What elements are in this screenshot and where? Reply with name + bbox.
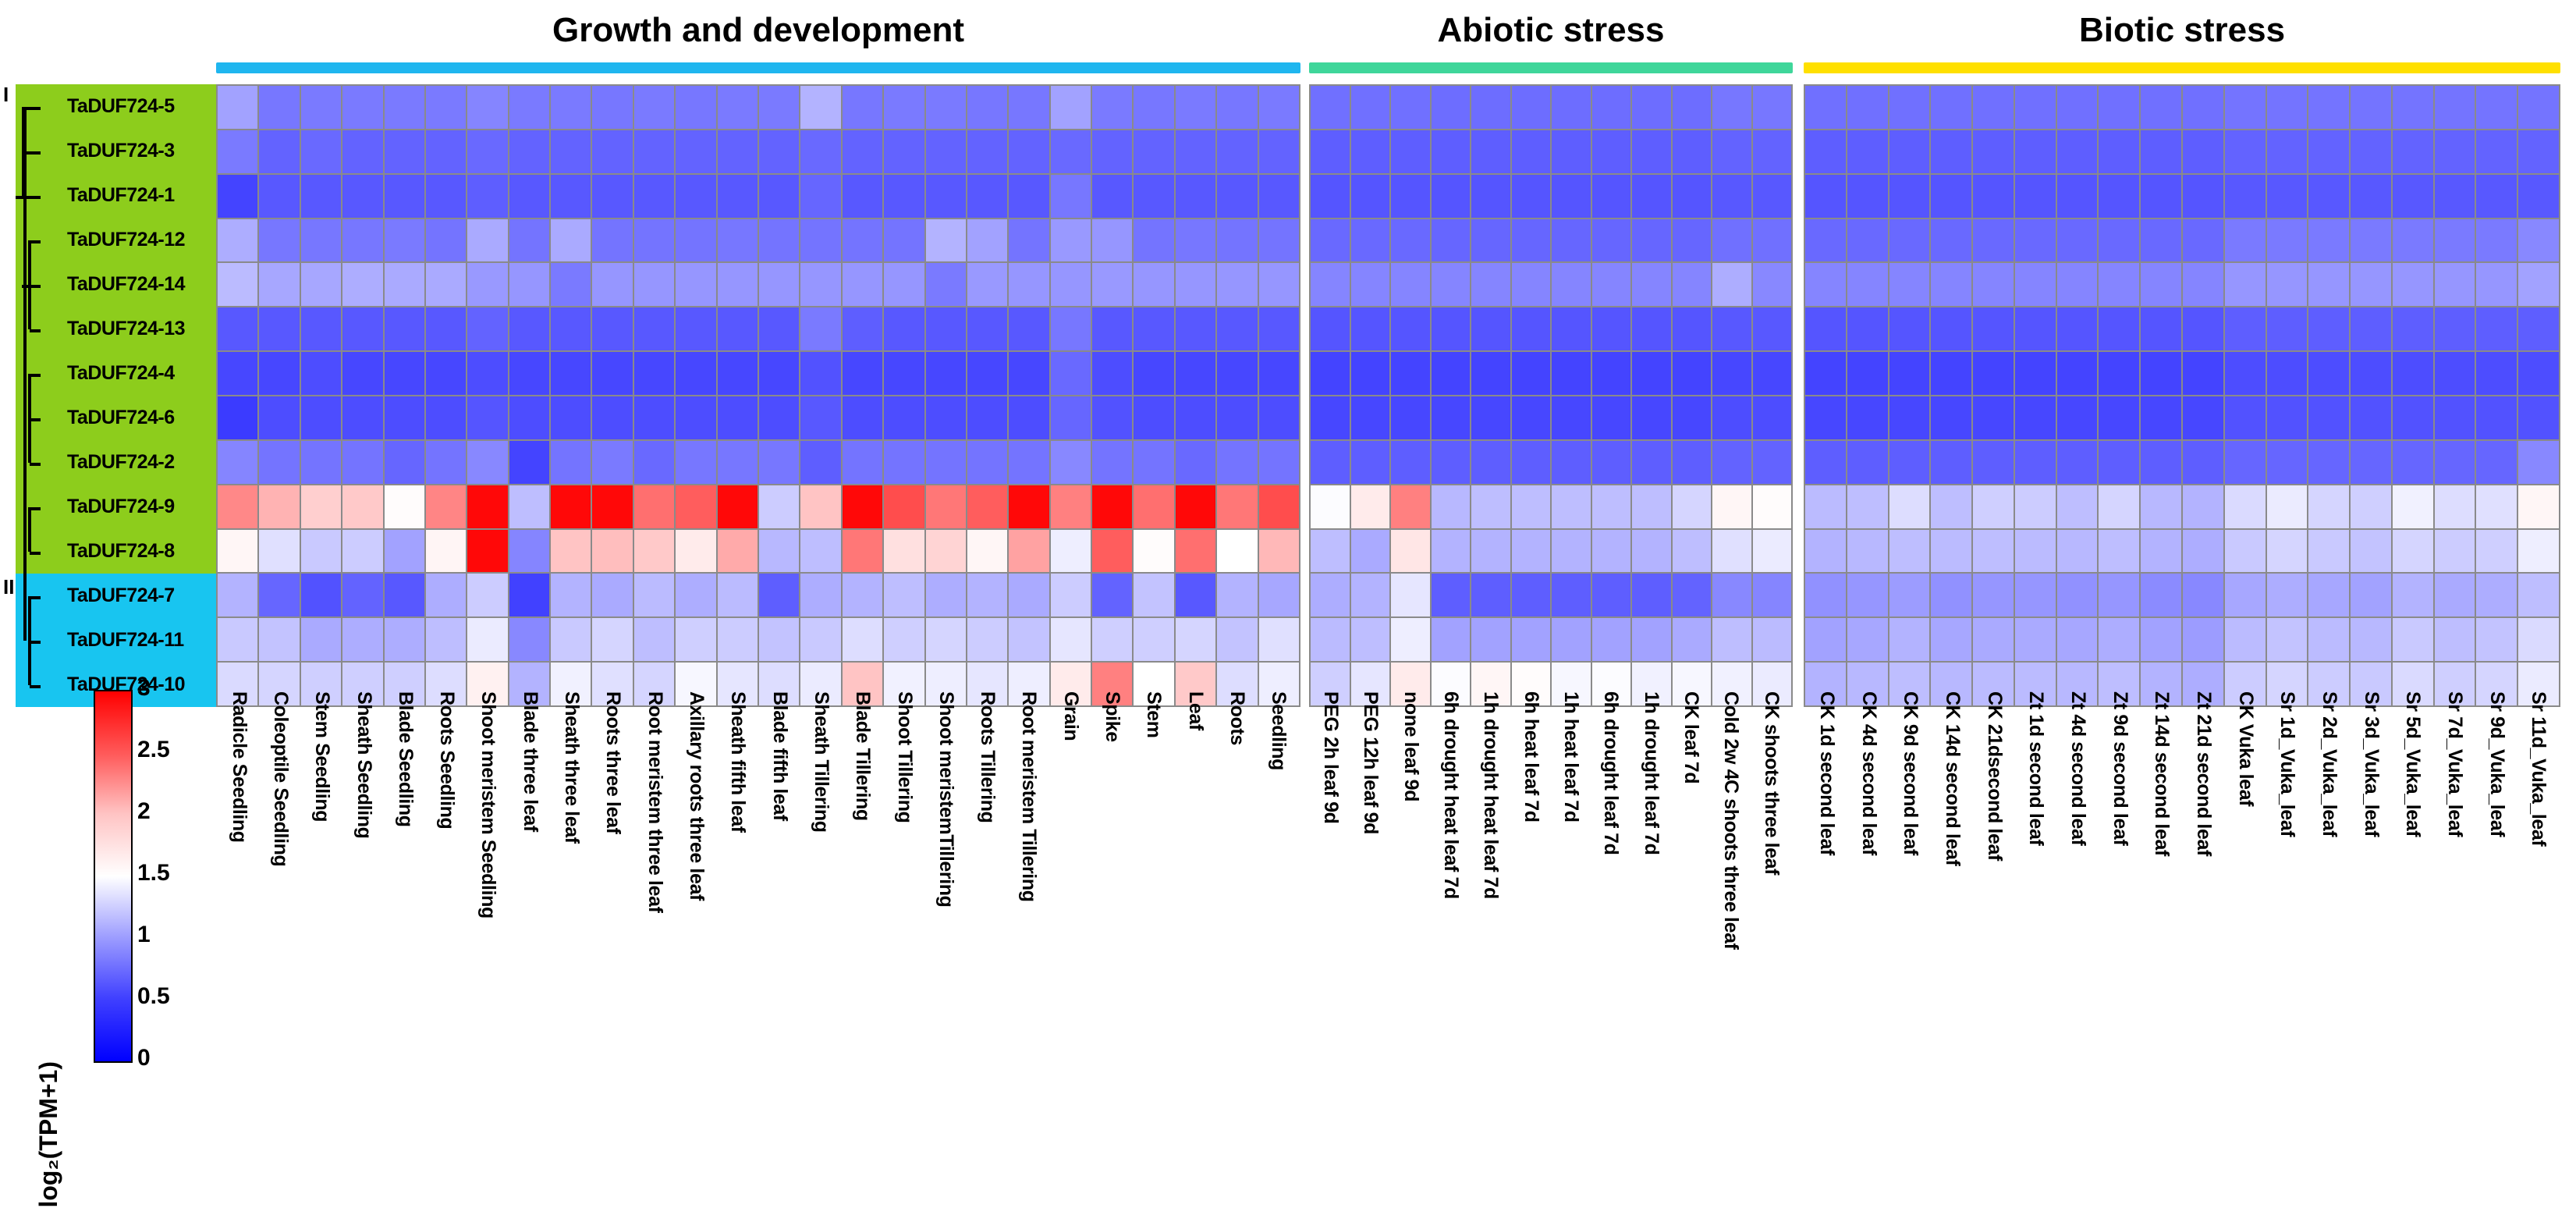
heatmap-cell	[385, 574, 424, 616]
heatmap-cell	[884, 307, 924, 350]
heatmap-cell	[1391, 574, 1430, 616]
heatmap-cell	[1889, 530, 1930, 573]
heatmap-cell	[676, 263, 715, 306]
heatmap-cell	[1009, 352, 1048, 395]
column-label: Blade fifth leaf	[768, 691, 791, 821]
heatmap-cell	[1259, 219, 1299, 262]
heatmap-cell	[1632, 485, 1671, 528]
heatmap-cell	[926, 352, 966, 395]
heatmap-cell	[1391, 396, 1430, 439]
heatmap-cell	[926, 574, 966, 616]
heatmap-cell	[1512, 396, 1551, 439]
heatmap-cell	[385, 396, 424, 439]
heatmap-cell	[1311, 263, 1350, 306]
heatmap-cell	[467, 441, 507, 484]
heatmap-cell	[1311, 307, 1350, 350]
heatmap-cell	[2183, 530, 2223, 573]
heatmap-cell	[1805, 307, 1846, 350]
heatmap-cell	[800, 352, 840, 395]
heatmap-cell	[1471, 530, 1510, 573]
heatmap-cell	[1931, 441, 1971, 484]
heatmap-cell	[1847, 530, 1888, 573]
heatmap-cell	[800, 175, 840, 218]
column-label: Sheath Tillering	[810, 691, 832, 833]
heatmap-cell	[2267, 86, 2308, 129]
heatmap-cell	[634, 263, 674, 306]
heatmap-cell	[2099, 530, 2139, 573]
heatmap-cell	[1753, 263, 1792, 306]
heatmap-cell	[2267, 307, 2308, 350]
heatmap-cell	[2183, 130, 2223, 173]
heatmap-cell	[301, 219, 341, 262]
column-label: Sheath Seedling	[353, 691, 375, 838]
heatmap-cell	[884, 618, 924, 661]
column-label: Zt 14d second leaf	[2150, 691, 2173, 856]
heatmap-cell	[467, 307, 507, 350]
column-label: Roots Seedling	[435, 691, 458, 829]
heatmap-cell	[1889, 307, 1930, 350]
heatmap-cell	[2099, 352, 2139, 395]
heatmap-cell	[1471, 618, 1510, 661]
column-label: Zt 21d second leaf	[2192, 691, 2215, 856]
heatmap-cell	[1632, 352, 1671, 395]
heatmap-cell	[1552, 396, 1591, 439]
heatmap-cell	[1931, 352, 1971, 395]
row-label-taduf724-7: TaDUF724-7	[67, 574, 175, 618]
heatmap-cell	[259, 219, 299, 262]
tree-branch	[30, 329, 41, 332]
heatmap-cell	[1351, 530, 1390, 573]
heatmap-cell	[718, 574, 758, 616]
heatmap-cell	[1592, 263, 1631, 306]
column-label: 6h heat leaf 7d	[1520, 691, 1542, 823]
column-label: Root meristem Tillering	[1017, 691, 1040, 902]
heatmap-cell	[1432, 307, 1471, 350]
section-bar-3	[1804, 62, 2560, 73]
heatmap-cell	[1673, 396, 1712, 439]
column-label: CK 4d second leaf	[1857, 691, 1880, 855]
heatmap-cell	[218, 574, 257, 616]
heatmap-cell	[1847, 618, 1888, 661]
heatmap-cell	[1351, 618, 1390, 661]
heatmap-cell	[1889, 396, 1930, 439]
heatmap-cell	[1552, 307, 1591, 350]
heatmap-cell	[843, 175, 882, 218]
tree-branch	[30, 285, 41, 288]
section-title-2: Abiotic stress	[1239, 11, 1863, 50]
heatmap-cell	[1512, 441, 1551, 484]
heatmap-cell	[884, 130, 924, 173]
heatmap-cell	[259, 396, 299, 439]
heatmap-cell	[1847, 175, 1888, 218]
heatmap-cell	[426, 352, 466, 395]
heatmap-cell	[1712, 263, 1751, 306]
heatmap-cell	[2057, 574, 2098, 616]
heatmap-cell	[2225, 530, 2266, 573]
heatmap-cell	[884, 441, 924, 484]
heatmap-cell	[1552, 86, 1591, 129]
heatmap-cell	[2518, 307, 2559, 350]
heatmap-cell	[2476, 130, 2517, 173]
heatmap-cell	[1051, 574, 1091, 616]
heatmap-cell	[2308, 130, 2349, 173]
heatmap-cell	[634, 396, 674, 439]
tree-branch	[30, 374, 41, 377]
column-label: Zt 4d second leaf	[2067, 691, 2089, 845]
row-labels: TaDUF724-5TaDUF724-3TaDUF724-1TaDUF724-1…	[48, 84, 216, 663]
heatmap-cell	[1432, 396, 1471, 439]
heatmap-cell	[1351, 219, 1390, 262]
heatmap-cell	[2476, 86, 2517, 129]
heatmap-cell	[551, 530, 591, 573]
heatmap-cell	[2225, 263, 2266, 306]
heatmap-cell	[342, 530, 382, 573]
heatmap-cell	[676, 618, 715, 661]
heatmap-cell	[967, 175, 1007, 218]
heatmap-cell	[1712, 130, 1751, 173]
heatmap-cell	[342, 86, 382, 129]
heatmap-cell	[1259, 130, 1299, 173]
heatmap-cell	[2435, 618, 2475, 661]
heatmap-cell	[2267, 263, 2308, 306]
heatmap-cell	[1632, 130, 1671, 173]
heatmap-cell	[1889, 574, 1930, 616]
heatmap-cell	[1176, 396, 1215, 439]
heatmap-cell	[2308, 175, 2349, 218]
heatmap-cell	[1973, 219, 2014, 262]
heatmap-cell	[1805, 530, 1846, 573]
heatmap-cell	[1753, 574, 1792, 616]
heatmap-cell	[1009, 263, 1048, 306]
heatmap-cell	[2015, 574, 2056, 616]
heatmap-cell	[385, 530, 424, 573]
heatmap-cell	[634, 574, 674, 616]
heatmap-cell	[2141, 175, 2181, 218]
heatmap-cell	[1712, 219, 1751, 262]
heatmap-cell	[467, 485, 507, 528]
heatmap-panel-3	[1804, 84, 2560, 707]
heatmap-cell	[676, 574, 715, 616]
heatmap-cell	[1351, 396, 1390, 439]
heatmap-cell	[2351, 263, 2391, 306]
heatmap-cell	[467, 263, 507, 306]
heatmap-cell	[1552, 618, 1591, 661]
column-label: Leaf	[1184, 691, 1207, 730]
heatmap-cell	[1847, 441, 1888, 484]
heatmap-cell	[1471, 86, 1510, 129]
clade-tag-II: II	[3, 575, 14, 599]
heatmap-cell	[926, 130, 966, 173]
heatmap-cell	[426, 219, 466, 262]
heatmap-cell	[1592, 530, 1631, 573]
heatmap-cell	[2518, 485, 2559, 528]
column-label: Sheath fifth leaf	[726, 691, 749, 833]
heatmap-cell	[2518, 219, 2559, 262]
tree-branch	[23, 107, 27, 641]
heatmap-cell	[551, 86, 591, 129]
heatmap-cell	[1753, 396, 1792, 439]
heatmap-cell	[926, 396, 966, 439]
heatmap-cell	[2099, 618, 2139, 661]
column-label: Sr 2d_Vuka_leaf	[2318, 691, 2340, 837]
column-label: CK Vuka leaf	[2234, 691, 2257, 806]
heatmap-cell	[1311, 485, 1350, 528]
heatmap-cell	[592, 530, 632, 573]
column-label: Stem Seedling	[310, 691, 333, 822]
heatmap-cell	[2099, 485, 2139, 528]
tree-branch	[30, 552, 41, 555]
tree-branch	[30, 463, 41, 466]
heatmap-cell	[1009, 574, 1048, 616]
heatmap-cell	[1847, 130, 1888, 173]
heatmap-cell	[1552, 263, 1591, 306]
heatmap-cell	[301, 396, 341, 439]
heatmap-cell	[592, 86, 632, 129]
heatmap-cell	[2183, 574, 2223, 616]
heatmap-cell	[1351, 352, 1390, 395]
heatmap-cell	[1092, 219, 1132, 262]
tree-branch	[30, 685, 41, 688]
heatmap-cell	[2225, 130, 2266, 173]
heatmap-cell	[467, 618, 507, 661]
heatmap-cell	[1092, 574, 1132, 616]
heatmap-cell	[1973, 530, 2014, 573]
heatmap-cell	[634, 618, 674, 661]
heatmap-cell	[2308, 618, 2349, 661]
heatmap-cell	[2057, 352, 2098, 395]
heatmap-cell	[259, 485, 299, 528]
heatmap-cell	[342, 396, 382, 439]
column-label: 6h drought leaf 7d	[1599, 691, 1622, 854]
heatmap-cell	[301, 574, 341, 616]
heatmap-cell	[1973, 263, 2014, 306]
heatmap-cell	[800, 485, 840, 528]
heatmap-cell	[1351, 307, 1390, 350]
heatmap-cell	[1134, 86, 1173, 129]
heatmap-cell	[1889, 219, 1930, 262]
heatmap-cell	[592, 219, 632, 262]
heatmap-cell	[592, 352, 632, 395]
heatmap-cell	[2183, 441, 2223, 484]
heatmap-cell	[1217, 441, 1257, 484]
heatmap-cell	[1552, 219, 1591, 262]
heatmap-cell	[385, 618, 424, 661]
colorbar-tick-1-5: 1.5	[137, 860, 170, 886]
heatmap-cell	[385, 263, 424, 306]
heatmap-cell	[218, 307, 257, 350]
heatmap-cell	[1973, 175, 2014, 218]
heatmap-cell	[2351, 441, 2391, 484]
heatmap-cell	[1753, 618, 1792, 661]
heatmap-cell	[2476, 175, 2517, 218]
column-label: Shoot meristemTillering	[935, 691, 957, 908]
heatmap-cell	[2057, 530, 2098, 573]
heatmap-cell	[1092, 86, 1132, 129]
column-label: Coleoptile Seedling	[269, 691, 292, 866]
row-label-taduf724-4: TaDUF724-4	[67, 351, 175, 396]
heatmap-cell	[2225, 618, 2266, 661]
heatmap-cell	[1512, 219, 1551, 262]
heatmap-cell	[2518, 396, 2559, 439]
heatmap-cell	[1471, 352, 1510, 395]
heatmap-cell	[1311, 441, 1350, 484]
heatmap-cell	[1391, 352, 1430, 395]
heatmap-cell	[2225, 219, 2266, 262]
column-label: Root meristem three leaf	[644, 691, 666, 913]
heatmap-cell	[1973, 618, 2014, 661]
section-title-3: Biotic stress	[1870, 11, 2494, 50]
heatmap-cell	[1632, 263, 1671, 306]
heatmap-cell	[426, 263, 466, 306]
column-label: Axillary roots three leaf	[685, 691, 708, 901]
row-label-taduf724-11: TaDUF724-11	[67, 618, 184, 663]
heatmap-cell	[843, 307, 882, 350]
heatmap-cell	[1673, 263, 1712, 306]
heatmap-cell	[2141, 263, 2181, 306]
heatmap-cell	[2141, 86, 2181, 129]
heatmap-cell	[592, 574, 632, 616]
tree-branch	[30, 418, 41, 421]
heatmap-cell	[1673, 441, 1712, 484]
heatmap-cell	[1009, 175, 1048, 218]
heatmap-cell	[1134, 574, 1173, 616]
heatmap-cell	[634, 219, 674, 262]
heatmap-cell	[1009, 307, 1048, 350]
heatmap-cell	[1259, 574, 1299, 616]
heatmap-cell	[2225, 175, 2266, 218]
heatmap-cell	[1552, 574, 1591, 616]
heatmap-cell	[2099, 263, 2139, 306]
heatmap-cell	[2057, 396, 2098, 439]
heatmap-cell	[1259, 263, 1299, 306]
heatmap-cell	[1889, 175, 1930, 218]
column-label: 1h drought leaf 7d	[1640, 691, 1662, 854]
heatmap-cell	[426, 396, 466, 439]
heatmap-cell	[2393, 130, 2433, 173]
column-label: CK shoots three leaf	[1760, 691, 1783, 875]
heatmap-cell	[1592, 396, 1631, 439]
heatmap-cell	[1973, 130, 2014, 173]
heatmap-cell	[2308, 307, 2349, 350]
heatmap-cell	[342, 485, 382, 528]
heatmap-cell	[467, 175, 507, 218]
heatmap-cell	[1512, 574, 1551, 616]
heatmap-cell	[884, 574, 924, 616]
heatmap-cell	[1051, 219, 1091, 262]
heatmap-cell	[1217, 219, 1257, 262]
heatmap-cell	[1632, 307, 1671, 350]
heatmap-cell	[718, 307, 758, 350]
heatmap-cell	[1931, 175, 1971, 218]
heatmap-cell	[1176, 530, 1215, 573]
heatmap-cell	[2267, 352, 2308, 395]
heatmap-cell	[509, 485, 549, 528]
heatmap-cell	[1931, 219, 1971, 262]
row-label-taduf724-5: TaDUF724-5	[67, 84, 175, 129]
heatmap-cell	[2518, 352, 2559, 395]
heatmap-cell	[385, 130, 424, 173]
heatmap-cell	[1847, 263, 1888, 306]
heatmap-cell	[2393, 441, 2433, 484]
heatmap-cell	[426, 574, 466, 616]
column-label: Sr 3d_Vuka_leaf	[2360, 691, 2383, 837]
heatmap-cell	[1009, 485, 1048, 528]
heatmap-panel-2	[1309, 84, 1793, 707]
heatmap-cell	[1471, 175, 1510, 218]
heatmap-cell	[1217, 130, 1257, 173]
heatmap-cell	[676, 175, 715, 218]
heatmap-cell	[2099, 130, 2139, 173]
heatmap-cell	[1889, 441, 1930, 484]
heatmap-cell	[2435, 219, 2475, 262]
heatmap-cell	[509, 352, 549, 395]
heatmap-cell	[1712, 396, 1751, 439]
heatmap-cell	[218, 441, 257, 484]
heatmap-cell	[926, 485, 966, 528]
heatmap-cell	[1432, 618, 1471, 661]
heatmap-cell	[2141, 396, 2181, 439]
heatmap-cell	[800, 530, 840, 573]
heatmap-cell	[2308, 219, 2349, 262]
heatmap-cell	[634, 175, 674, 218]
heatmap-cell	[1973, 352, 2014, 395]
heatmap-cell	[718, 530, 758, 573]
column-label: CK leaf 7d	[1680, 691, 1702, 783]
heatmap-cell	[2015, 618, 2056, 661]
dendrogram	[16, 84, 48, 663]
heatmap-cell	[301, 307, 341, 350]
heatmap-cell	[1552, 352, 1591, 395]
heatmap-cell	[1134, 175, 1173, 218]
heatmap-cell	[1009, 130, 1048, 173]
heatmap-cell	[1351, 485, 1390, 528]
heatmap-cell	[967, 618, 1007, 661]
heatmap-cell	[843, 485, 882, 528]
heatmap-cell	[1632, 219, 1671, 262]
heatmap-cell	[342, 441, 382, 484]
heatmap-cell	[2225, 574, 2266, 616]
heatmap-cell	[1805, 574, 1846, 616]
heatmap-cell	[1471, 574, 1510, 616]
heatmap-cell	[1753, 530, 1792, 573]
heatmap-figure: Growth and developmentAbiotic stressBiot…	[0, 0, 2576, 1144]
heatmap-cell	[2393, 307, 2433, 350]
heatmap-cell	[1217, 618, 1257, 661]
heatmap-cell	[2015, 307, 2056, 350]
colorbar-tick-2-5: 2.5	[137, 737, 170, 763]
heatmap-cell	[1512, 263, 1551, 306]
heatmap-cell	[967, 396, 1007, 439]
heatmap-cell	[2308, 485, 2349, 528]
heatmap-cell	[1632, 574, 1671, 616]
column-label: PEG 2h leaf 9d	[1319, 691, 1342, 823]
heatmap-cell	[2351, 352, 2391, 395]
heatmap-cell	[551, 263, 591, 306]
heatmap-cell	[509, 618, 549, 661]
heatmap-cell	[301, 618, 341, 661]
heatmap-cell	[843, 530, 882, 573]
heatmap-cell	[2183, 618, 2223, 661]
heatmap-cell	[2351, 618, 2391, 661]
heatmap-cell	[1311, 618, 1350, 661]
heatmap-cell	[2015, 86, 2056, 129]
heatmap-cell	[2351, 86, 2391, 129]
heatmap-cell	[2476, 530, 2517, 573]
row-label-taduf724-14: TaDUF724-14	[67, 262, 185, 307]
heatmap-cell	[2393, 485, 2433, 528]
heatmap-cell	[592, 396, 632, 439]
heatmap-cell	[1592, 86, 1631, 129]
